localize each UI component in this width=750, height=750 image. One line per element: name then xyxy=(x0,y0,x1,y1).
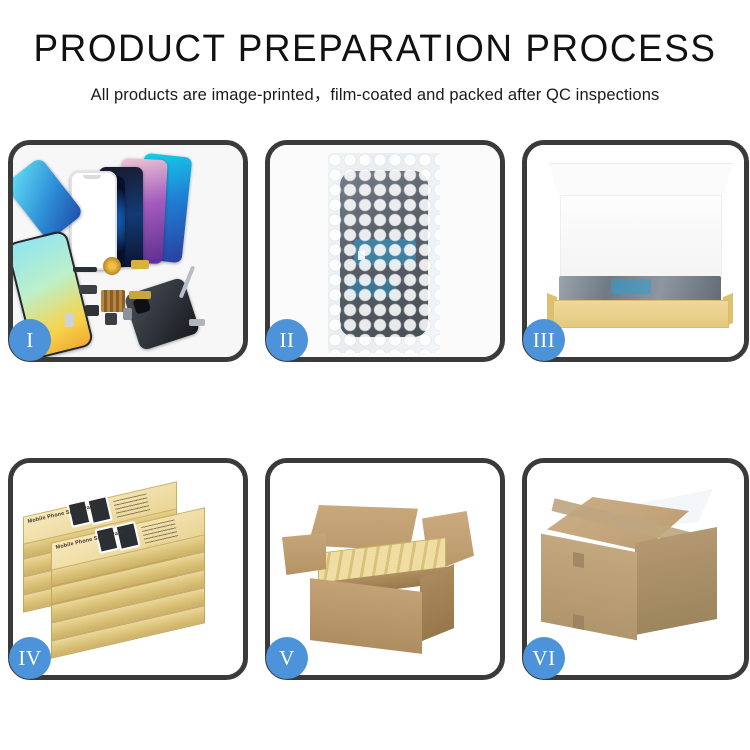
small-part-1-icon xyxy=(85,305,99,316)
camera-module-icon xyxy=(79,285,97,294)
step-badge-3: III xyxy=(523,319,565,361)
carton-seam-bottom xyxy=(573,614,584,630)
step-badge-6: VI xyxy=(523,637,565,679)
process-step-3[interactable]: III xyxy=(522,140,749,362)
step-5-photo xyxy=(270,463,500,675)
small-part-2-icon xyxy=(105,313,117,325)
page-title: PRODUCT PREPARATION PROCESS xyxy=(11,30,739,70)
step-badge-5: V xyxy=(266,637,308,679)
speaker-coil-icon xyxy=(103,257,121,275)
step-4-photo: Mobile Phone Spare Parts Mobile Phone Sp… xyxy=(13,463,243,675)
process-step-4[interactable]: Mobile Phone Spare Parts Mobile Phone Sp… xyxy=(8,458,248,680)
phone-back-housing-icon xyxy=(124,277,201,351)
open-carton-illustration xyxy=(270,463,500,675)
bubble-dots-pattern xyxy=(328,153,440,353)
step-2-photo xyxy=(270,145,500,357)
process-step-6[interactable]: VI xyxy=(522,458,749,680)
page-header: PRODUCT PREPARATION PROCESS All products… xyxy=(0,0,750,105)
screws-icon xyxy=(189,319,205,326)
step-1-photo xyxy=(13,145,243,357)
chip-grid-icon xyxy=(101,290,125,312)
carton-front-panel xyxy=(541,534,637,641)
carton-left-flap xyxy=(282,533,326,575)
mailer-foam-liner xyxy=(560,195,722,281)
bubble-sheet xyxy=(328,153,440,353)
phone-products-illustration xyxy=(13,145,243,357)
mailer-front-panel xyxy=(553,300,729,328)
carton-side-panel xyxy=(420,564,454,642)
step-badge-4: IV xyxy=(9,637,51,679)
process-step-2[interactable]: II xyxy=(265,140,505,362)
carton-seam-top xyxy=(573,552,584,568)
carton-side-panel xyxy=(635,527,717,635)
carton-front-panel xyxy=(310,578,422,654)
step-badge-1: I xyxy=(9,319,51,361)
flex-cable-icon xyxy=(131,260,149,269)
process-step-5[interactable]: V xyxy=(265,458,505,680)
stacked-boxes-illustration: Mobile Phone Spare Parts Mobile Phone Sp… xyxy=(13,463,243,675)
small-part-3-icon xyxy=(65,313,74,327)
process-step-grid: I II xyxy=(8,140,745,680)
screen-glass-icon xyxy=(70,171,117,270)
page-subtitle: All products are image-printed，film-coat… xyxy=(0,81,750,105)
bubble-wrap-illustration xyxy=(270,145,500,357)
flex-cable-2-icon xyxy=(129,291,151,299)
earpiece-bar-icon xyxy=(73,267,97,272)
process-step-1[interactable]: I xyxy=(8,140,248,362)
step-badge-2: II xyxy=(266,319,308,361)
small-part-4-icon xyxy=(123,308,132,320)
